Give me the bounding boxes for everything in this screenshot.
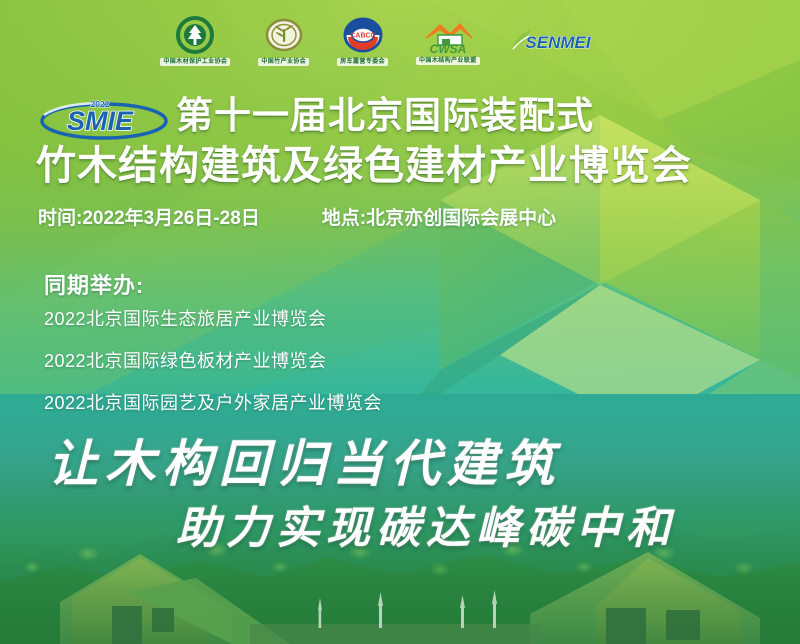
list-item: 2022北京国际生态旅居产业博览会 [44, 305, 382, 331]
sponsor-logo-cwsa[interactable]: CWSA 中国木结构产业联盟 [416, 17, 480, 65]
concurrent-events-heading: 同期举办: [44, 268, 144, 300]
slogan-line-1: 让木构回归当代建筑 [48, 424, 561, 496]
pine-tree-shield-icon [173, 16, 217, 56]
leaf-senmei-icon: SENMEI [508, 26, 600, 56]
headline-line-1: 第十一届北京国际装配式 [176, 94, 594, 138]
sponsor-logo-strip: 中国木材保护工业协会 中国竹产业协会 [0, 8, 800, 74]
sponsor-logo-china-wood-protection[interactable]: 中国木材保护工业协会 [160, 16, 230, 66]
smie-year: 2022 [91, 99, 110, 109]
concurrent-events-list: 2022北京国际生态旅居产业博览会 2022北京国际绿色板材产业博览会 2022… [44, 305, 382, 415]
svg-text:CWSA: CWSA [429, 42, 466, 55]
event-meta: 时间:2022年3月26日-28日 地点:北京亦创国际会展中心 [38, 203, 556, 230]
event-venue: 地点:北京亦创国际会展中心 [322, 203, 556, 230]
sponsor-logo-bamboo-association[interactable]: 中国竹产业协会 [258, 16, 309, 66]
svg-text:SENMEI: SENMEI [525, 33, 591, 52]
headline-line-2: 竹木结构建筑及绿色建材产业博览会 [36, 142, 692, 190]
sponsor-logo-cabcc[interactable]: CABCC 房车露营专委会 [337, 16, 388, 66]
smie-acronym: SMIE [67, 106, 134, 136]
exhibition-poster: 中国木材保护工业协会 中国竹产业协会 [0, 0, 800, 644]
bamboo-seal-icon [263, 16, 305, 56]
list-item: 2022北京国际绿色板材产业博览会 [44, 347, 382, 373]
sponsor-logo-label: 中国木材保护工业协会 [160, 58, 230, 66]
sponsor-logo-label: 中国竹产业协会 [258, 58, 309, 66]
sponsor-logo-label: 房车露营专委会 [337, 58, 388, 66]
sponsor-logo-senmei[interactable]: SENMEI SENMEI [508, 26, 600, 56]
smie-logo: SMIE 2022 [38, 95, 170, 139]
slogan-line-2: 助力实现碳达峰碳中和 [176, 492, 676, 556]
svg-text:CABCC: CABCC [350, 32, 375, 39]
cabcc-badge-icon: CABCC [341, 16, 385, 56]
list-item: 2022北京国际园艺及户外家居产业博览会 [44, 389, 382, 415]
event-date: 时间:2022年3月26日-28日 [38, 203, 260, 230]
sponsor-logo-label: 中国木结构产业联盟 [416, 57, 480, 65]
house-cwsa-icon: CWSA [420, 17, 476, 55]
